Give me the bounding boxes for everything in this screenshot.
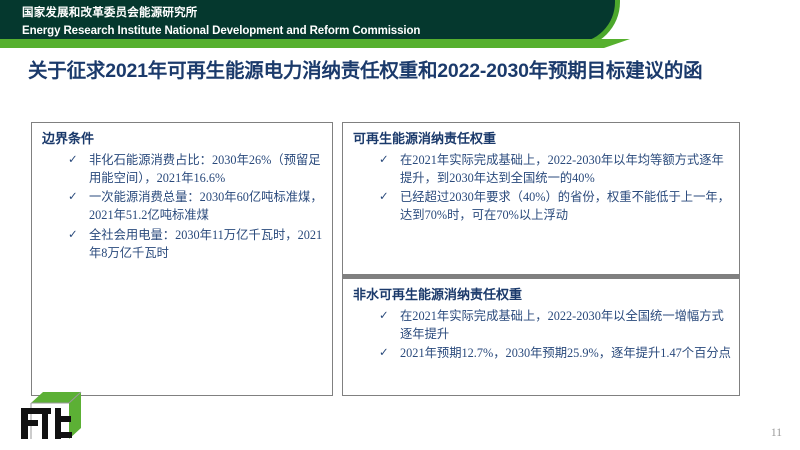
page-title: 关于征求2021年可再生能源电力消纳责任权重和2022-2030年预期目标建议的… bbox=[28, 58, 758, 86]
eri-logo bbox=[17, 390, 83, 442]
page-number: 11 bbox=[771, 427, 782, 439]
list-item-text: 非化石能源消费占比：2030年26%（预留足用能空间），2021年16.6% bbox=[89, 153, 321, 185]
boundary-conditions-heading: 边界条件 bbox=[42, 131, 324, 148]
list-item-text: 2021年预期12.7%，2030年预期25.9%，逐年提升1.47个百分点 bbox=[400, 346, 731, 360]
list-item: ✓ 全社会用电量：2030年11万亿千瓦时，2021年8万亿千瓦时 bbox=[68, 226, 324, 262]
non-hydro-quota-box: 非水可再生能源消纳责任权重 ✓ 在2021年实际完成基础上，2022-2030年… bbox=[342, 278, 740, 396]
check-icon: ✓ bbox=[68, 151, 78, 168]
header-organization: 国家发展和改革委员会能源研究所 Energy Research Institut… bbox=[22, 6, 420, 39]
header-accent-stripe bbox=[0, 39, 604, 48]
list-item: ✓ 2021年预期12.7%，2030年预期25.9%，逐年提升1.47个百分点 bbox=[379, 344, 731, 362]
list-item-text: 在2021年实际完成基础上，2022-2030年以年均等额方式逐年提升，到203… bbox=[400, 153, 724, 185]
check-icon: ✓ bbox=[379, 151, 389, 168]
check-icon: ✓ bbox=[68, 226, 78, 243]
logo-glyph bbox=[21, 408, 72, 439]
list-item: ✓ 在2021年实际完成基础上，2022-2030年以年均等额方式逐年提升，到2… bbox=[379, 151, 731, 187]
boundary-conditions-list: ✓ 非化石能源消费占比：2030年26%（预留足用能空间），2021年16.6%… bbox=[42, 151, 324, 262]
list-item-text: 一次能源消费总量：2030年60亿吨标准煤，2021年51.2亿吨标准煤 bbox=[89, 190, 323, 222]
list-item-text: 全社会用电量：2030年11万亿千瓦时，2021年8万亿千瓦时 bbox=[89, 228, 322, 260]
list-item: ✓ 已经超过2030年要求（40%）的省份，权重不能低于上一年，达到70%时，可… bbox=[379, 188, 731, 224]
header-org-en: Energy Research Institute National Devel… bbox=[22, 24, 420, 39]
check-icon: ✓ bbox=[379, 188, 389, 205]
renewable-quota-list: ✓ 在2021年实际完成基础上，2022-2030年以年均等额方式逐年提升，到2… bbox=[353, 151, 731, 225]
header-org-cn: 国家发展和改革委员会能源研究所 bbox=[22, 6, 420, 21]
renewable-quota-box: 可再生能源消纳责任权重 ✓ 在2021年实际完成基础上，2022-2030年以年… bbox=[342, 122, 740, 275]
non-hydro-quota-list: ✓ 在2021年实际完成基础上，2022-2030年以全国统一增幅方式逐年提升 … bbox=[353, 307, 731, 363]
list-item: ✓ 在2021年实际完成基础上，2022-2030年以全国统一增幅方式逐年提升 bbox=[379, 307, 731, 343]
non-hydro-quota-heading: 非水可再生能源消纳责任权重 bbox=[353, 287, 731, 304]
list-item: ✓ 一次能源消费总量：2030年60亿吨标准煤，2021年51.2亿吨标准煤 bbox=[68, 188, 324, 224]
boundary-conditions-box: 边界条件 ✓ 非化石能源消费占比：2030年26%（预留足用能空间），2021年… bbox=[31, 122, 333, 396]
list-item: ✓ 非化石能源消费占比：2030年26%（预留足用能空间），2021年16.6% bbox=[68, 151, 324, 187]
renewable-quota-heading: 可再生能源消纳责任权重 bbox=[353, 131, 731, 148]
check-icon: ✓ bbox=[379, 344, 389, 361]
list-item-text: 在2021年实际完成基础上，2022-2030年以全国统一增幅方式逐年提升 bbox=[400, 309, 724, 341]
check-icon: ✓ bbox=[379, 307, 389, 324]
check-icon: ✓ bbox=[68, 188, 78, 205]
list-item-text: 已经超过2030年要求（40%）的省份，权重不能低于上一年，达到70%时，可在7… bbox=[400, 190, 730, 222]
